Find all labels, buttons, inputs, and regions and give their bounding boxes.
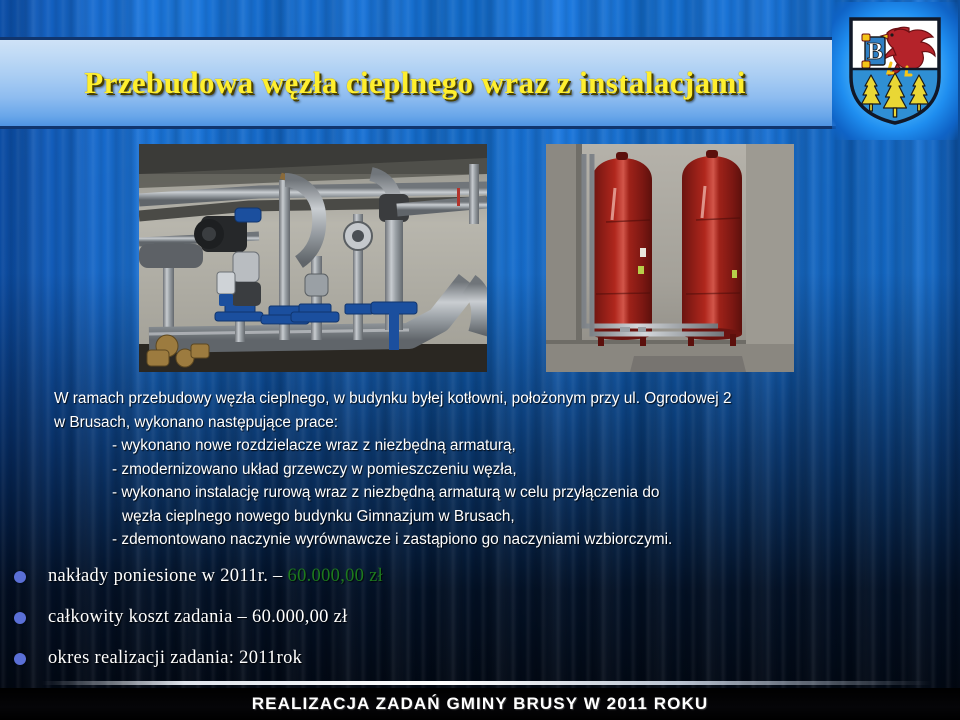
list-item: okres realizacji zadania: 2011rok (14, 638, 914, 679)
bullet-list: nakłady poniesione w 2011r. – 60.000,00 … (14, 556, 914, 679)
body-line-5: - wykonano instalację rurową wraz z niez… (46, 481, 914, 505)
bullet-text-1: nakłady poniesione w 2011r. – (48, 566, 288, 586)
bullet-label-3: okres realizacji zadania: 2011rok (48, 648, 302, 669)
bullet-amount-1: 60.000,00 zł (288, 566, 384, 586)
bullet-dot-icon (14, 653, 26, 665)
footer-divider (42, 681, 932, 685)
photo-expansion-vessels (546, 144, 794, 372)
footer-bar: REALIZACJA ZADAŃ GMINY BRUSY W 2011 ROKU (0, 688, 960, 720)
body-line-2: w Brusach, wykonano następujące prace: (46, 411, 914, 435)
bullet-label-2: całkowity koszt zadania – 60.000,00 zł (48, 607, 348, 628)
page-title: Przebudowa węzła cieplnego wraz z instal… (0, 65, 836, 101)
footer-title: REALIZACJA ZADAŃ GMINY BRUSY W 2011 ROKU (252, 694, 708, 714)
list-item: całkowity koszt zadania – 60.000,00 zł (14, 597, 914, 638)
slide-root: Przebudowa węzła cieplnego wraz z instal… (0, 0, 960, 720)
list-item: nakłady poniesione w 2011r. – 60.000,00 … (14, 556, 914, 597)
bullet-dot-icon (14, 571, 26, 583)
municipal-crest: B (832, 2, 958, 140)
body-line-6: węzła cieplnego nowego budynku Gimnazjum… (46, 505, 914, 529)
bullet-label-1: nakłady poniesione w 2011r. – 60.000,00 … (48, 566, 383, 587)
body-paragraph: W ramach przebudowy węzła cieplnego, w b… (46, 387, 914, 552)
body-line-7: - zdemontowano naczynie wyrównawcze i za… (46, 528, 914, 552)
title-band: Przebudowa węzła cieplnego wraz z instal… (0, 37, 836, 129)
body-line-1: W ramach przebudowy węzła cieplnego, w b… (46, 387, 914, 411)
bullet-dot-icon (14, 612, 26, 624)
body-line-4: - zmodernizowano układ grzewczy w pomies… (46, 458, 914, 482)
photo-heat-node-pipes (139, 144, 487, 372)
body-line-3: - wykonano nowe rozdzielacze wraz z niez… (46, 434, 914, 458)
coat-of-arms-icon: B (847, 15, 943, 127)
